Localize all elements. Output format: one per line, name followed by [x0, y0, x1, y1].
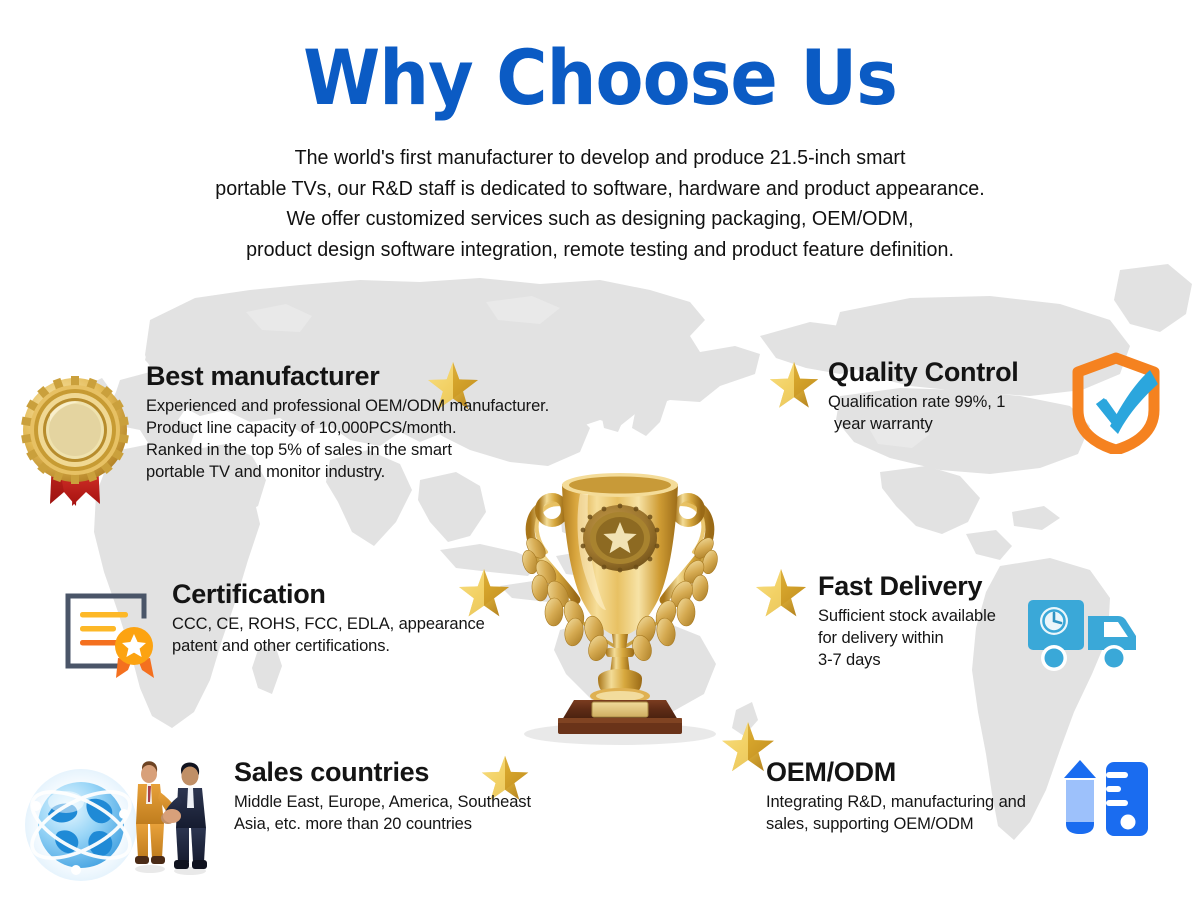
feature-heading: Quality Control — [828, 358, 1088, 386]
intro-line-4: product design software integration, rem… — [120, 235, 1080, 266]
feature-body: Sufficient stock available for delivery … — [818, 606, 1078, 672]
page-title: Why Choose Us — [48, 40, 1152, 116]
feature-line: Qualification rate 99%, 1 — [828, 392, 1088, 414]
feature-body: Qualification rate 99%, 1 year warranty — [828, 392, 1088, 436]
globe-handshake-icon — [18, 752, 218, 887]
feature-heading: OEM/ODM — [766, 758, 1086, 786]
feature-line: year warranty — [828, 414, 1088, 436]
feature-sales-countries: Sales countries Middle East, Europe, Ame… — [234, 758, 634, 836]
feature-best-manufacturer: Best manufacturer Experienced and profes… — [146, 362, 586, 484]
feature-line: Experienced and professional OEM/ODM man… — [146, 396, 586, 418]
feature-line: CCC, CE, ROHS, FCC, EDLA, appearance — [172, 614, 572, 636]
feature-certification: Certification CCC, CE, ROHS, FCC, EDLA, … — [172, 580, 572, 658]
feature-body: Middle East, Europe, America, Southeast … — [234, 792, 634, 836]
feature-heading: Fast Delivery — [818, 572, 1078, 600]
feature-oem-odm: OEM/ODM Integrating R&D, manufacturing a… — [766, 758, 1086, 836]
infographic-canvas: Why Choose Us The world's first manufact… — [0, 0, 1200, 900]
intro-line-3: We offer customized services such as des… — [120, 204, 1080, 235]
feature-body: Integrating R&D, manufacturing and sales… — [766, 792, 1086, 836]
feature-line: Ranked in the top 5% of sales in the sma… — [146, 440, 586, 462]
feature-quality-control: Quality Control Qualification rate 99%, … — [828, 358, 1088, 436]
feature-line: for delivery within — [818, 628, 1078, 650]
feature-line: Product line capacity of 10,000PCS/month… — [146, 418, 586, 440]
award-medal-icon — [10, 374, 142, 515]
feature-line: Asia, etc. more than 20 countries — [234, 814, 634, 836]
gold-star-icon — [766, 358, 822, 419]
intro-line-2: portable TVs, our R&D staff is dedicated… — [120, 174, 1080, 205]
feature-line: sales, supporting OEM/ODM — [766, 814, 1086, 836]
feature-body: Experienced and professional OEM/ODM man… — [146, 396, 586, 484]
feature-heading: Sales countries — [234, 758, 634, 786]
feature-fast-delivery: Fast Delivery Sufficient stock available… — [818, 572, 1078, 672]
feature-line: Integrating R&D, manufacturing and — [766, 792, 1086, 814]
intro-paragraph: The world's first manufacturer to develo… — [120, 143, 1080, 265]
certificate-icon — [58, 586, 162, 687]
feature-heading: Certification — [172, 580, 572, 608]
gold-star-icon — [752, 565, 810, 628]
feature-line: Middle East, Europe, America, Southeast — [234, 792, 634, 814]
feature-line: Sufficient stock available — [818, 606, 1078, 628]
intro-line-1: The world's first manufacturer to develo… — [120, 143, 1080, 174]
feature-line: patent and other certifications. — [172, 636, 572, 658]
feature-body: CCC, CE, ROHS, FCC, EDLA, appearance pat… — [172, 614, 572, 658]
feature-line: portable TV and monitor industry. — [146, 462, 586, 484]
feature-line: 3-7 days — [818, 650, 1078, 672]
feature-heading: Best manufacturer — [146, 362, 586, 390]
